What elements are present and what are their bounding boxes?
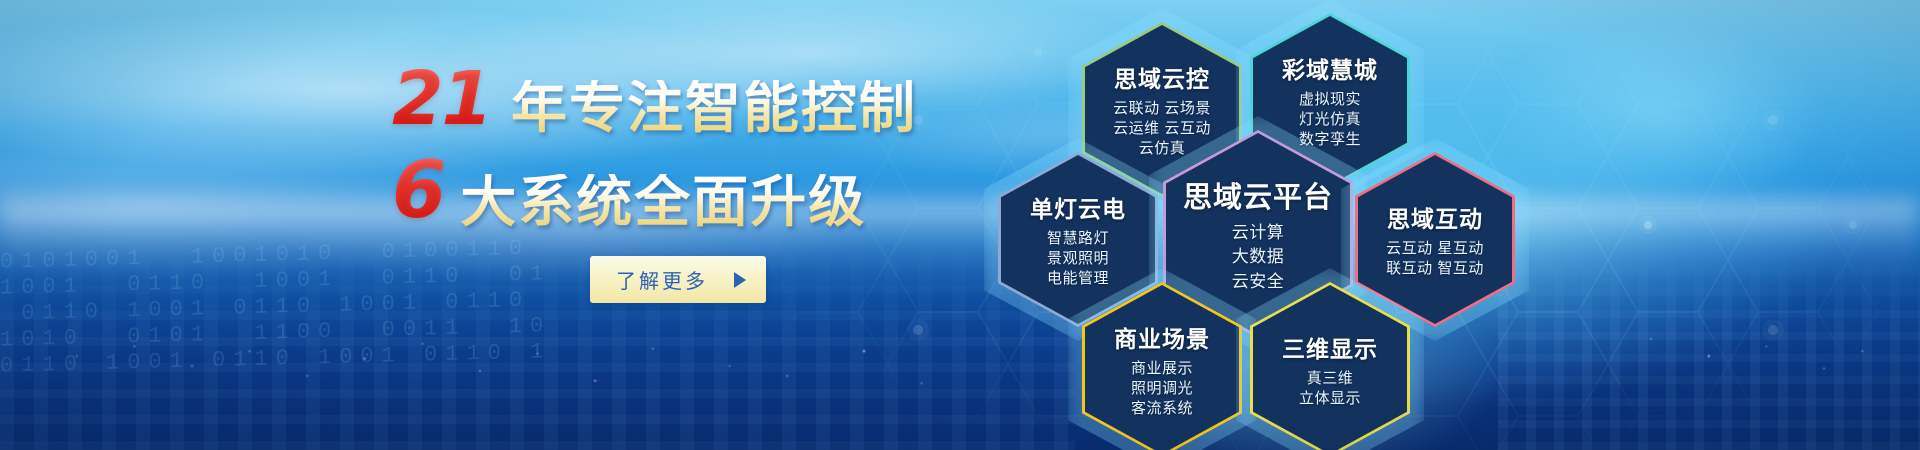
- hexagon-subtitle-line: 智慧路灯: [1047, 229, 1109, 249]
- hexagon-subtitle-line: 虚拟现实: [1299, 90, 1361, 110]
- headline-block: 21 年专注智能控制 6 大系统全面升级 了解更多: [392, 62, 992, 303]
- hexagon-content: 商业场景商业展示照明调光客流系统: [1082, 282, 1242, 450]
- hexagon-subtitle-line: 灯光仿真: [1299, 110, 1361, 130]
- hexagon-title: 商业场景: [1114, 320, 1210, 354]
- headline-line-2: 6 大系统全面升级: [392, 152, 992, 230]
- hexagon-title: 思域云平台: [1183, 174, 1333, 216]
- hexagon-title: 思域互动: [1387, 200, 1483, 234]
- headline-line-1: 21 年专注智能控制: [392, 62, 992, 136]
- hexagon-subtitle-line: 景观照明: [1047, 249, 1109, 269]
- hexagon-subtitle-line: 立体显示: [1299, 389, 1361, 409]
- hexagon-shangye-changjing[interactable]: 商业场景商业展示照明调光客流系统: [1082, 282, 1242, 450]
- promo-banner: 0101001 1001010 0100110 1001 0110 1001 0…: [0, 0, 1920, 450]
- years-number: 21: [392, 62, 497, 136]
- learn-more-button[interactable]: 了解更多: [590, 256, 766, 303]
- hexagon-title: 三维显示: [1282, 330, 1378, 364]
- hexagon-title: 彩域慧城: [1282, 51, 1378, 85]
- systems-number: 6: [392, 152, 450, 230]
- hexagon-subtitle-list: 云互动 星互动联互动 智互动: [1386, 239, 1484, 279]
- hexagon-subtitle-line: 云联动 云场景: [1113, 99, 1211, 119]
- hexagon-subtitle-line: 商业展示: [1131, 359, 1193, 379]
- play-triangle-icon: [734, 272, 746, 288]
- hexagon-title: 单灯云电: [1030, 190, 1126, 224]
- hexagon-subtitle-line: 真三维: [1299, 369, 1361, 389]
- hexagon-subtitle-list: 智慧路灯景观照明电能管理: [1047, 229, 1109, 288]
- hexagon-title: 思域云控: [1114, 60, 1210, 94]
- hexagon-subtitle-list: 商业展示照明调光客流系统: [1131, 359, 1193, 418]
- solution-hexagon-cluster: 思域云控云联动 云场景云运维 云互动云仿真彩域慧城虚拟现实灯光仿真数字孪生单灯云…: [985, 0, 1920, 450]
- hexagon-subtitle-list: 真三维立体显示: [1299, 369, 1361, 409]
- hexagon-subtitle-line: 云计算: [1232, 221, 1285, 246]
- hexagon-content: 三维显示真三维立体显示: [1250, 282, 1410, 450]
- hexagon-subtitle-line: 云互动 星互动: [1386, 239, 1484, 259]
- hexagon-subtitle-line: 大数据: [1232, 245, 1285, 270]
- headline-line-2-text: 大系统全面升级: [460, 174, 866, 230]
- hexagon-subtitle-line: 客流系统: [1131, 399, 1193, 419]
- hexagon-subtitle-line: 照明调光: [1131, 379, 1193, 399]
- hexagon-sanwei-xianshi[interactable]: 三维显示真三维立体显示: [1250, 282, 1410, 450]
- learn-more-label: 了解更多: [616, 265, 708, 294]
- hexagon-subtitle-line: 联互动 智互动: [1386, 259, 1484, 279]
- headline-line-1-text: 年专注智能控制: [511, 80, 917, 136]
